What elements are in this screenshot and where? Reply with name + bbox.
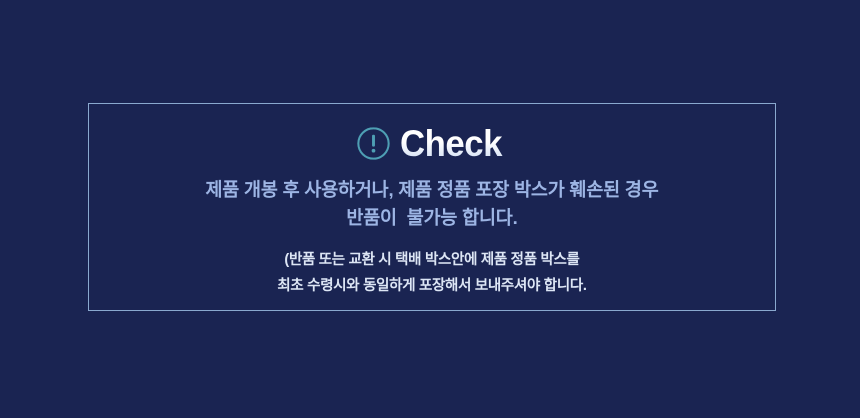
secondary-message-line: 최초 수령시와 동일하게 포장해서 보내주셔야 합니다. — [277, 274, 586, 299]
primary-message-line: 제품 개봉 후 사용하거나, 제품 정품 포장 박스가 훼손된 경우 — [205, 176, 658, 204]
secondary-message-line: (반품 또는 교환 시 택배 박스안에 제품 정품 박스를 — [277, 248, 586, 273]
check-header: Check — [356, 122, 509, 164]
primary-message-line: 반품이 불가능 합니다. — [205, 204, 658, 232]
page-canvas: Check 제품 개봉 후 사용하거나, 제품 정품 포장 박스가 훼손된 경우… — [0, 0, 860, 418]
check-notice-box: Check 제품 개봉 후 사용하거나, 제품 정품 포장 박스가 훼손된 경우… — [88, 103, 776, 311]
secondary-message: (반품 또는 교환 시 택배 박스안에 제품 정품 박스를 최초 수령시와 동일… — [277, 248, 586, 299]
exclamation-circle-icon — [356, 126, 391, 161]
primary-message: 제품 개봉 후 사용하거나, 제품 정품 포장 박스가 훼손된 경우 반품이 불… — [205, 176, 658, 232]
check-title: Check — [400, 125, 502, 162]
